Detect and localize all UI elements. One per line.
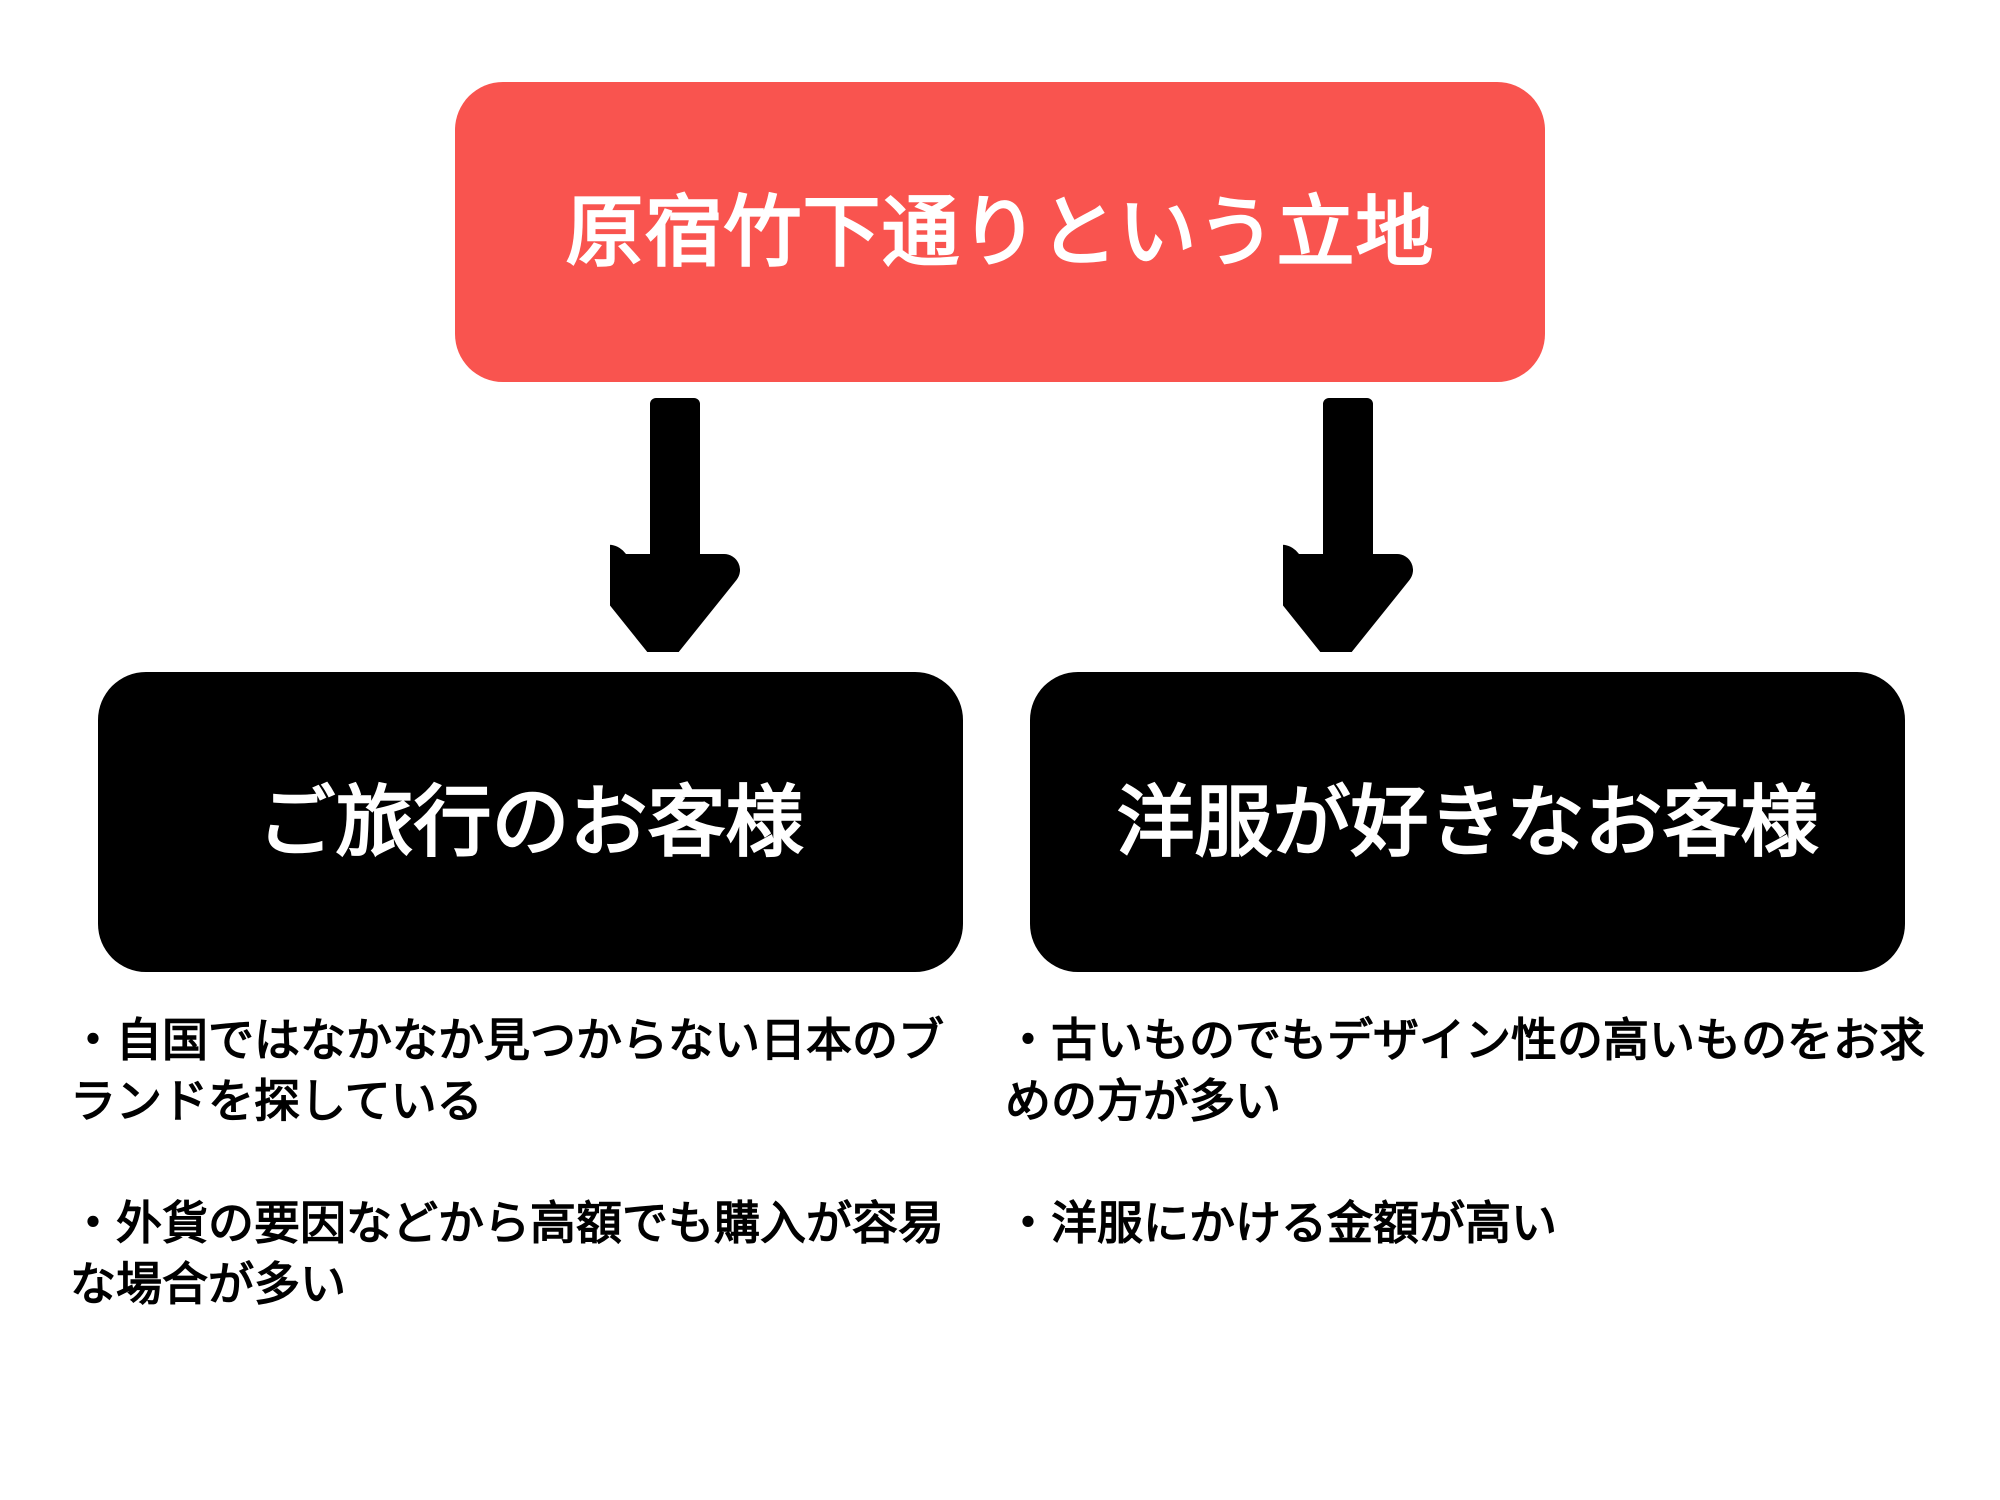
arrow-down-left-icon [610, 392, 740, 652]
node-customer-fashion-lover: 洋服が好きなお客様 [1030, 672, 1905, 972]
arrow-down-right-icon [1283, 392, 1413, 652]
node-location-title-label: 原宿竹下通りという立地 [565, 193, 1434, 271]
node-customer-fashion-lover-label: 洋服が好きなお客様 [1116, 783, 1818, 861]
bullet-text: ・洋服にかける金額が高い [1005, 1193, 1935, 1254]
slide-canvas: 原宿竹下通りという立地 ご旅行のお客様 洋服が好きなお客様 ・自国ではなかなか見… [0, 0, 2000, 1500]
bullet-item: ・外貨の要因などから高額でも購入が容易な場合が多い [70, 1193, 975, 1314]
bullet-text: ・外貨の要因などから高額でも購入が容易な場合が多い [70, 1193, 975, 1314]
bullet-list-fashion-lover: ・古いものでもデザイン性の高いものをお求めの方が多い ・洋服にかける金額が高い [1005, 1010, 1935, 1254]
node-customer-traveler-label: ご旅行のお客様 [257, 783, 803, 861]
bullet-list-traveler: ・自国ではなかなか見つからない日本のブランドを探している ・外貨の要因などから高… [70, 1010, 975, 1315]
bullet-item: ・自国ではなかなか見つからない日本のブランドを探している [70, 1010, 975, 1131]
node-location-title: 原宿竹下通りという立地 [455, 82, 1545, 382]
bullet-item: ・古いものでもデザイン性の高いものをお求めの方が多い [1005, 1010, 1935, 1131]
node-customer-traveler: ご旅行のお客様 [98, 672, 963, 972]
bullet-text: ・古いものでもデザイン性の高いものをお求めの方が多い [1005, 1010, 1935, 1131]
bullet-text: ・自国ではなかなか見つからない日本のブランドを探している [70, 1010, 975, 1131]
bullet-item: ・洋服にかける金額が高い [1005, 1193, 1935, 1254]
